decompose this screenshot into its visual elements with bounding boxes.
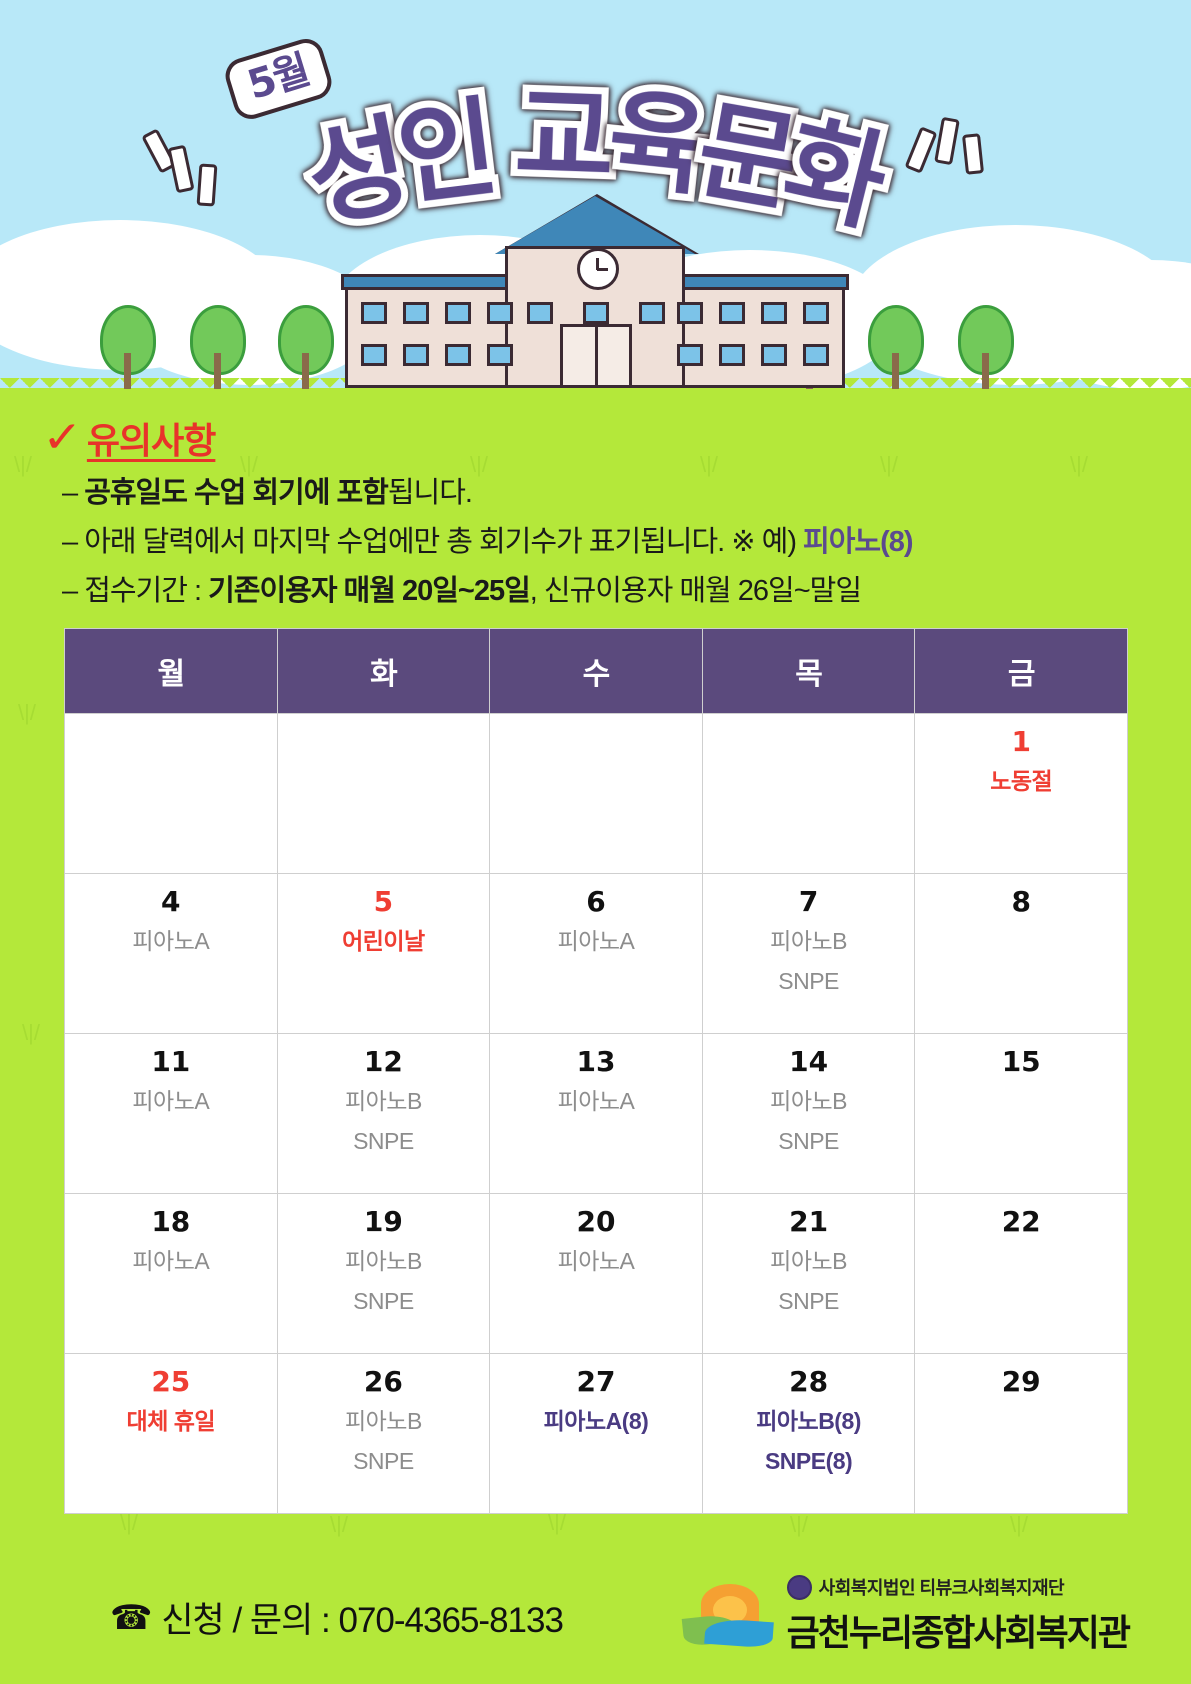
- grass-doodle: \|/: [14, 452, 32, 478]
- notice-plain-head: 접수기간 :: [84, 575, 208, 607]
- calendar-day-number: 21: [704, 1204, 914, 1240]
- calendar-day-cell[interactable]: 1노동절: [915, 714, 1128, 874]
- calendar-event-label: 피아노B: [704, 1244, 914, 1280]
- calendar-day-number: 7: [704, 884, 914, 920]
- telephone-icon: ☎: [110, 1598, 151, 1638]
- calendar-event-label: 피아노A: [491, 1244, 701, 1280]
- calendar-event-label: SNPE: [704, 964, 914, 1000]
- organization-logo: 사회복지법인 티뷰크사회복지재단 금천누리종합사회복지관: [683, 1574, 1129, 1656]
- calendar-day-cell[interactable]: 27피아노A(8): [490, 1354, 703, 1514]
- calendar-day-cell[interactable]: 21피아노BSNPE: [702, 1194, 915, 1354]
- calendar-day-cell[interactable]: 6피아노A: [490, 874, 703, 1034]
- calendar-event-label: SNPE(8): [704, 1444, 914, 1480]
- notice-bullet: –: [62, 575, 84, 607]
- contact-info: ☎ 신청 / 문의 : 070-4365-8133: [110, 1592, 563, 1643]
- calendar-event-label: 노동절: [916, 764, 1126, 800]
- calendar-day-cell[interactable]: 26피아노BSNPE: [277, 1354, 490, 1514]
- calendar-event-label: 피아노A: [491, 1084, 701, 1120]
- notice-section: ✓ 유의사항 – 공휴일도 수업 회기에 포함됩니다. – 아래 달력에서 마지…: [44, 412, 1154, 611]
- notice-bullet: –: [62, 526, 84, 558]
- calendar-day-number: 1: [916, 724, 1126, 760]
- logo-subtitle: 사회복지법인 티뷰크사회복지재단: [819, 1574, 1064, 1600]
- calendar-day-cell[interactable]: 22: [915, 1194, 1128, 1354]
- sunrise-logo-icon: [683, 1584, 775, 1646]
- calendar-day-number: 4: [66, 884, 276, 920]
- title-char: 인: [387, 61, 499, 227]
- check-icon: ✓: [42, 416, 83, 460]
- calendar-day-number: 13: [491, 1044, 701, 1080]
- notice-example-badge: 피아노(8): [803, 526, 912, 558]
- calendar-week-row: 4피아노A5어린이날6피아노A7피아노BSNPE8: [65, 874, 1128, 1034]
- calendar-week-row: 18피아노A19피아노BSNPE20피아노A21피아노BSNPE22: [65, 1194, 1128, 1354]
- calendar-day-cell[interactable]: [277, 714, 490, 874]
- calendar-day-cell[interactable]: 20피아노A: [490, 1194, 703, 1354]
- title-char: 교: [513, 48, 612, 207]
- calendar-event-label: 피아노B: [279, 1084, 489, 1120]
- calendar-day-cell[interactable]: [490, 714, 703, 874]
- calendar-event-label: SNPE: [279, 1284, 489, 1320]
- weekday-header-tue: 화: [277, 629, 490, 714]
- calendar-day-number: 28: [704, 1364, 914, 1400]
- logo-text-block: 사회복지법인 티뷰크사회복지재단 금천누리종합사회복지관: [787, 1574, 1129, 1656]
- calendar-day-cell[interactable]: 4피아노A: [65, 874, 278, 1034]
- calendar-event-label: SNPE: [704, 1124, 914, 1160]
- grass-doodle: \|/: [18, 700, 36, 726]
- calendar-day-cell[interactable]: 15: [915, 1034, 1128, 1194]
- weekday-header-fri: 금: [915, 629, 1128, 714]
- calendar-week-row: 25대체 휴일26피아노BSNPE27피아노A(8)28피아노B(8)SNPE(…: [65, 1354, 1128, 1514]
- calendar-day-cell[interactable]: 18피아노A: [65, 1194, 278, 1354]
- calendar-day-number: 12: [279, 1044, 489, 1080]
- notice-bullet: –: [62, 477, 84, 509]
- weekday-header-wed: 수: [490, 629, 703, 714]
- weekday-header-mon: 월: [65, 629, 278, 714]
- calendar-event-label: 피아노A: [66, 924, 276, 960]
- school-building-illustration: [345, 228, 845, 388]
- tree-icon: [278, 305, 334, 375]
- poster-root: 5월 성인교육문화 \|/ \|/ \|/ \|/ \|/ \|/ \|/ \|…: [0, 0, 1191, 1684]
- calendar-week-row: 11피아노A12피아노BSNPE13피아노A14피아노BSNPE15: [65, 1034, 1128, 1194]
- foundation-emblem-icon: [787, 1575, 812, 1600]
- grass-doodle: \|/: [330, 1512, 348, 1538]
- tree-icon: [868, 305, 924, 375]
- grass-doodle: \|/: [22, 1020, 40, 1046]
- calendar-event-label: 피아노A: [66, 1244, 276, 1280]
- notice-line-2: – 아래 달력에서 마지막 수업에만 총 회기수가 표기됩니다. ※ 예) 피아…: [62, 523, 1154, 562]
- calendar-day-number: 20: [491, 1204, 701, 1240]
- calendar-day-cell[interactable]: 29: [915, 1354, 1128, 1514]
- calendar-event-label: 피아노B: [279, 1244, 489, 1280]
- calendar-day-cell[interactable]: 13피아노A: [490, 1034, 703, 1194]
- logo-title: 금천누리종합사회복지관: [787, 1604, 1129, 1656]
- notice-header: ✓ 유의사항: [44, 412, 1154, 464]
- calendar-event-label: 피아노B(8): [704, 1404, 914, 1440]
- monthly-calendar: 월 화 수 목 금 1노동절4피아노A5어린이날6피아노A7피아노BSNPE81…: [64, 628, 1128, 1514]
- calendar-day-cell[interactable]: [65, 714, 278, 874]
- calendar-event-label: SNPE: [279, 1124, 489, 1160]
- calendar-event-label: SNPE: [279, 1444, 489, 1480]
- calendar-day-cell[interactable]: 11피아노A: [65, 1034, 278, 1194]
- calendar-day-cell[interactable]: [702, 714, 915, 874]
- calendar-event-label: 대체 휴일: [66, 1404, 276, 1440]
- calendar-day-number: 8: [916, 884, 1126, 920]
- calendar-day-cell[interactable]: 12피아노BSNPE: [277, 1034, 490, 1194]
- tree-icon: [958, 305, 1014, 375]
- calendar-event-label: SNPE: [704, 1284, 914, 1320]
- notice-line-1: – 공휴일도 수업 회기에 포함됩니다.: [62, 474, 1154, 513]
- calendar-day-cell[interactable]: 7피아노BSNPE: [702, 874, 915, 1034]
- notice-line-3: – 접수기간 : 기존이용자 매월 20일~25일, 신규이용자 매월 26일~…: [62, 572, 1154, 611]
- calendar-day-number: 18: [66, 1204, 276, 1240]
- calendar-day-number: 19: [279, 1204, 489, 1240]
- calendar-day-cell[interactable]: 19피아노BSNPE: [277, 1194, 490, 1354]
- calendar-header-row: 월 화 수 목 금: [65, 629, 1128, 714]
- calendar-event-label: 피아노A: [491, 924, 701, 960]
- tree-icon: [100, 305, 156, 375]
- weekday-header-thu: 목: [702, 629, 915, 714]
- notice-bold-text: 기존이용자 매월 20일~25일: [208, 575, 530, 607]
- calendar-event-label: 어린이날: [279, 924, 489, 960]
- tree-icon: [190, 305, 246, 375]
- calendar-day-number: 27: [491, 1364, 701, 1400]
- calendar-day-cell[interactable]: 5어린이날: [277, 874, 490, 1034]
- calendar-day-number: 15: [916, 1044, 1126, 1080]
- calendar-event-label: 피아노A: [66, 1084, 276, 1120]
- notice-bold-text: 공휴일도 수업 회기에 포함: [84, 477, 388, 509]
- calendar-day-cell[interactable]: 25대체 휴일: [65, 1354, 278, 1514]
- calendar-event-label: 피아노A(8): [491, 1404, 701, 1440]
- notice-rest-text: , 신규이용자 매월 26일~말일: [530, 575, 861, 607]
- calendar-event-label: 피아노B: [704, 924, 914, 960]
- calendar-event-label: 피아노B: [279, 1404, 489, 1440]
- notice-plain-text: 아래 달력에서 마지막 수업에만 총 회기수가 표기됩니다. ※ 예): [84, 526, 803, 558]
- calendar-day-cell[interactable]: 8: [915, 874, 1128, 1034]
- grass-doodle: \|/: [1010, 1512, 1028, 1538]
- school-door: [560, 324, 632, 388]
- calendar-day-number: 22: [916, 1204, 1126, 1240]
- notice-rest-text: 됩니다.: [388, 477, 472, 509]
- calendar-day-number: 25: [66, 1364, 276, 1400]
- calendar-day-cell[interactable]: 14피아노BSNPE: [702, 1034, 915, 1194]
- logo-subtitle-row: 사회복지법인 티뷰크사회복지재단: [787, 1574, 1129, 1600]
- calendar-week-row: 1노동절: [65, 714, 1128, 874]
- calendar-day-number: 6: [491, 884, 701, 920]
- clock-icon: [577, 248, 619, 290]
- poster-footer: ☎ 신청 / 문의 : 070-4365-8133 사회복지법인 티뷰크사회복지…: [0, 1556, 1191, 1684]
- calendar-day-number: 26: [279, 1364, 489, 1400]
- contact-text: 신청 / 문의 : 070-4365-8133: [161, 1592, 563, 1643]
- notice-title: 유의사항: [87, 412, 215, 464]
- calendar-day-number: 11: [66, 1044, 276, 1080]
- calendar-day-number: 14: [704, 1044, 914, 1080]
- grass-doodle: \|/: [790, 1512, 808, 1538]
- calendar-day-number: 29: [916, 1364, 1126, 1400]
- poster-title-block: 5월 성인교육문화: [0, 0, 1191, 250]
- calendar-event-label: 피아노B: [704, 1084, 914, 1120]
- calendar-day-cell[interactable]: 28피아노B(8)SNPE(8): [702, 1354, 915, 1514]
- calendar-day-number: 5: [279, 884, 489, 920]
